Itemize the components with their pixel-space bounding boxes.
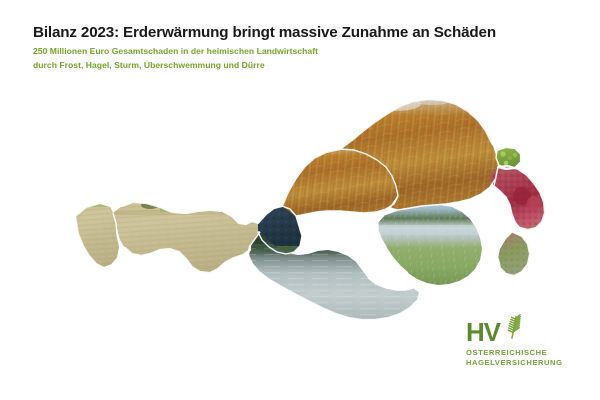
logo-text: ÖSTERREICHISCHE HAGELVERSICHERUNG (466, 348, 578, 369)
logo-wordmark: HV (466, 320, 500, 345)
subtitle-line-1: 250 Millionen Euro Gesamtschaden in der … (33, 45, 573, 58)
page-title: Bilanz 2023: Erderwärmung bringt massive… (33, 24, 573, 41)
subtitle-line-2: durch Frost, Hagel, Sturm, Überschwemmun… (33, 59, 573, 72)
region-steiermark[interactable] (372, 200, 490, 292)
infographic-canvas: Bilanz 2023: Erderwärmung bringt massive… (0, 0, 600, 400)
wheat-ear-icon (501, 313, 523, 344)
hagelversicherung-logo[interactable]: HV ÖSTERREICH (466, 318, 578, 370)
header-block: Bilanz 2023: Erderwärmung bringt massive… (33, 24, 573, 72)
logo-line-2: HAGELVERSICHERUNG (466, 358, 578, 368)
logo-mark: HV (466, 318, 578, 345)
logo-line-1: ÖSTERREICHISCHE (466, 348, 578, 358)
region-tirol[interactable] (105, 195, 270, 290)
